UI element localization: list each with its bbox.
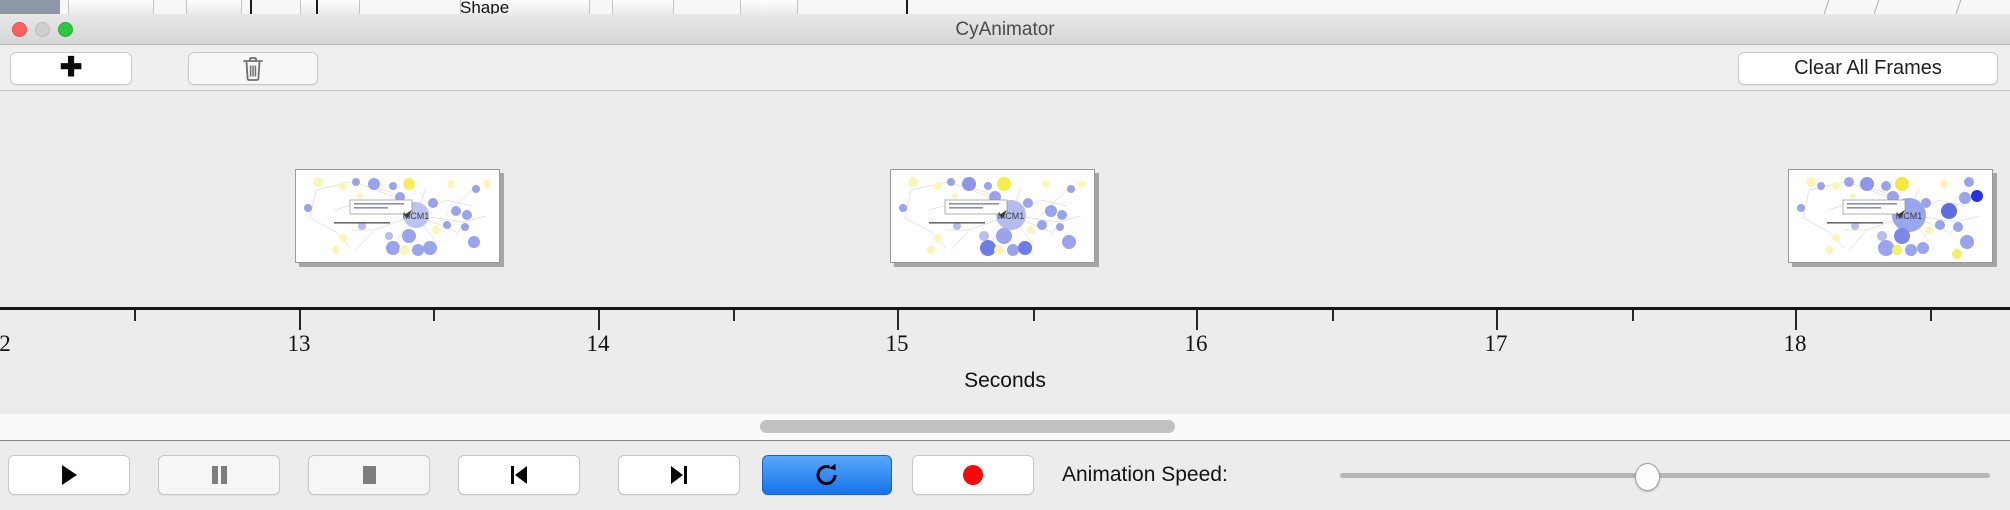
axis-tick-minor — [1332, 310, 1334, 321]
axis-tick-major — [299, 310, 301, 330]
scrollbar-thumb[interactable] — [760, 420, 1175, 433]
title-bar: CyAnimator — [0, 14, 2010, 45]
network-thumbnail: MCM1 — [891, 170, 1095, 263]
background-tab — [186, 0, 242, 14]
axis-tick-label: 16 — [1185, 331, 1208, 357]
background-tab — [740, 0, 798, 14]
pause-button[interactable] — [158, 455, 280, 495]
previous-frame-button[interactable] — [458, 455, 580, 495]
svg-text:MCM1: MCM1 — [403, 211, 430, 221]
record-button[interactable] — [912, 455, 1034, 495]
axis-tick-major — [897, 310, 899, 330]
background-marker — [250, 0, 252, 14]
axis-tick-major — [1795, 310, 1797, 330]
animation-speed-label: Animation Speed: — [1062, 455, 1228, 495]
axis-tick-major — [1196, 310, 1198, 330]
network-thumbnail: MCM1 — [1789, 170, 1993, 263]
loop-button[interactable] — [762, 455, 892, 495]
background-toolbar-block — [0, 0, 60, 14]
pause-icon — [209, 463, 229, 487]
skip-previous-icon — [508, 463, 530, 487]
background-divider — [1824, 0, 1830, 14]
axis-tick-major — [598, 310, 600, 330]
cyanimator-window: Shape CyAnimator ✚ Clear All Frames — [0, 0, 2010, 510]
transport-bar: Animation Speed: — [0, 442, 2010, 510]
axis-tick-label: 14 — [587, 331, 610, 357]
stop-button[interactable] — [308, 455, 430, 495]
toolbar: ✚ Clear All Frames — [0, 45, 2010, 91]
background-divider — [1874, 0, 1880, 14]
axis-tick-minor — [1930, 310, 1932, 321]
axis-tick-label: 17 — [1485, 331, 1508, 357]
axis-tick-minor — [1033, 310, 1035, 321]
animation-speed-slider[interactable] — [1340, 455, 1990, 495]
loop-icon — [814, 462, 840, 488]
delete-frame-button[interactable] — [188, 52, 318, 85]
background-window-word: Shape — [460, 0, 509, 15]
axis-tick-minor — [433, 310, 435, 321]
slider-thumb[interactable] — [1635, 463, 1660, 491]
timeline-frame[interactable]: MCM1 — [890, 169, 1095, 263]
axis-title: Seconds — [0, 369, 2010, 393]
network-thumbnail: MCM1 — [296, 170, 500, 263]
trash-icon — [242, 56, 264, 82]
axis-tick-label: 2 — [0, 331, 11, 357]
axis-tick-label: 13 — [288, 331, 311, 357]
record-icon — [961, 463, 985, 487]
slider-track — [1340, 473, 1990, 478]
timeline-axis — [0, 307, 2010, 310]
svg-text:MCM1: MCM1 — [998, 211, 1025, 221]
axis-tick-label: 18 — [1784, 331, 1807, 357]
background-tab — [300, 0, 360, 14]
timeline-panel[interactable]: MCM1 — [0, 91, 2010, 415]
background-tab — [68, 0, 154, 14]
background-marker — [906, 0, 908, 14]
window-title: CyAnimator — [0, 14, 2010, 45]
timeline-scrollbar[interactable] — [0, 414, 2010, 441]
timeline-frame[interactable]: MCM1 — [295, 169, 500, 263]
axis-tick-minor — [1632, 310, 1634, 321]
axis-tick-major — [1496, 310, 1498, 330]
timeline-frame[interactable]: MCM1 — [1788, 169, 1993, 263]
play-icon — [59, 463, 79, 487]
background-window-strip: Shape — [0, 0, 2010, 15]
background-divider — [1956, 0, 1962, 14]
stop-icon — [359, 463, 379, 487]
play-button[interactable] — [8, 455, 130, 495]
axis-tick-minor — [733, 310, 735, 321]
axis-tick-minor — [134, 310, 136, 321]
add-frame-button[interactable]: ✚ — [10, 52, 132, 85]
background-tab — [612, 0, 674, 14]
svg-text:MCM1: MCM1 — [1896, 211, 1923, 221]
next-frame-button[interactable] — [618, 455, 740, 495]
axis-tick-label: 15 — [886, 331, 909, 357]
background-marker — [316, 0, 318, 14]
skip-next-icon — [668, 463, 690, 487]
clear-all-frames-button[interactable]: Clear All Frames — [1738, 52, 1998, 85]
plus-icon: ✚ — [60, 54, 83, 81]
